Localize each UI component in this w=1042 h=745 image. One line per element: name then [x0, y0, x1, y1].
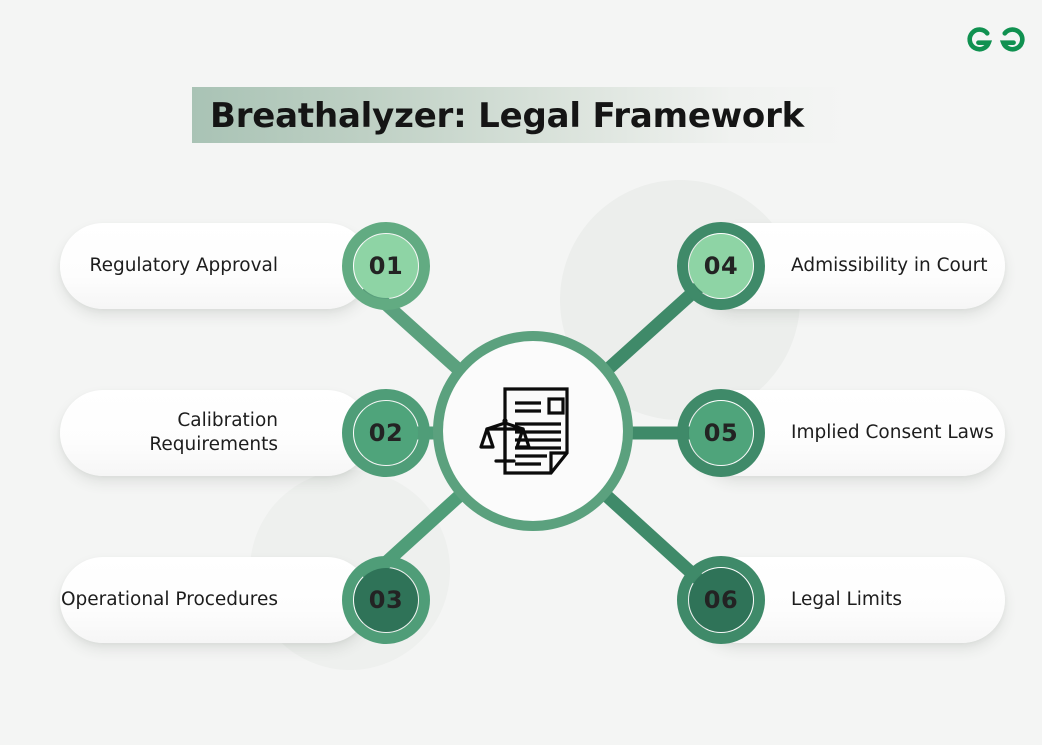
list-item[interactable]: Admissibility in Court 04	[667, 223, 1042, 309]
card-label-01: Regulatory Approval	[90, 254, 278, 278]
card-label-04: Admissibility in Court	[791, 254, 987, 278]
list-item[interactable]: Legal Limits 06	[667, 557, 1042, 643]
center-node	[433, 331, 633, 531]
badge-number-03: 03	[354, 568, 418, 632]
badge-number-01: 01	[354, 234, 418, 298]
center-node-inner	[443, 341, 623, 521]
badge-number-02: 02	[354, 401, 418, 465]
card-pill-02[interactable]: Calibration Requirements	[60, 390, 370, 476]
list-item[interactable]: Implied Consent Laws 05	[667, 390, 1042, 476]
card-label-02: Calibration Requirements	[60, 409, 278, 457]
card-label-05: Implied Consent Laws	[791, 421, 994, 445]
legal-document-scales-icon	[479, 377, 587, 485]
card-pill-01[interactable]: Regulatory Approval	[60, 223, 370, 309]
infographic-canvas: Breathalyzer: Legal Framework	[0, 0, 1042, 745]
card-label-06: Legal Limits	[791, 588, 902, 612]
card-pill-03[interactable]: Operational Procedures	[60, 557, 370, 643]
list-item[interactable]: Operational Procedures 03	[60, 557, 440, 643]
badge-number-04: 04	[689, 234, 753, 298]
list-item[interactable]: Calibration Requirements 02	[60, 390, 440, 476]
badge-number-06: 06	[689, 568, 753, 632]
card-label-03: Operational Procedures	[61, 588, 278, 612]
badge-number-05: 05	[689, 401, 753, 465]
list-item[interactable]: Regulatory Approval 01	[60, 223, 440, 309]
